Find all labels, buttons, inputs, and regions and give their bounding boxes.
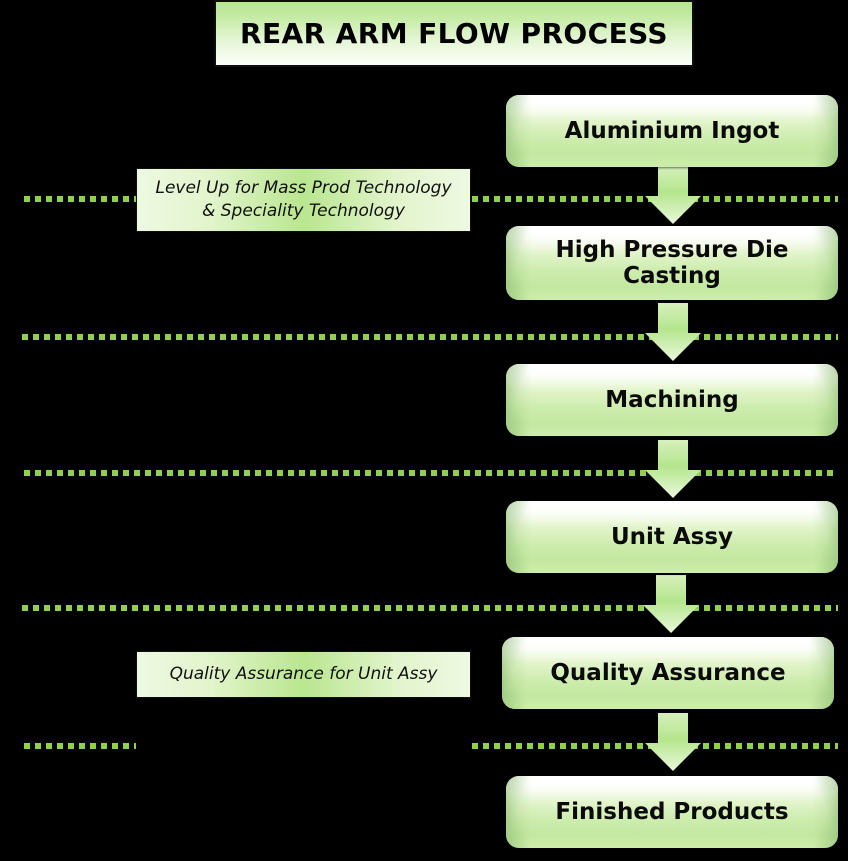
box-bevel-right [812,501,838,573]
annotation-box-level-up: Level Up for Mass Prod Technology & Spec… [136,168,471,232]
process-label: Aluminium Ingot [540,95,804,167]
down-arrow-icon-5 [645,713,701,771]
page-title: REAR ARM FLOW PROCESS [240,19,668,48]
box-bevel-right [812,776,838,848]
dashed-divider-4 [22,605,838,611]
process-label: Machining [540,364,804,436]
process-box-quality-assurance[interactable]: Quality Assurance [502,637,834,709]
annotation-line-1: Level Up for Mass Prod Technology [155,178,451,198]
box-bevel-right [812,95,838,167]
process-label: Unit Assy [540,501,804,573]
down-arrow-icon-1 [645,166,701,224]
annotation-box-quality-assurance: Quality Assurance for Unit Assy [136,651,471,698]
process-box-aluminium-ingot[interactable]: Aluminium Ingot [506,95,838,167]
dashed-divider-5-left [24,743,136,749]
down-arrow-icon-4 [643,575,699,633]
process-box-finished-products[interactable]: Finished Products [506,776,838,848]
down-arrow-icon-3 [645,440,701,498]
annotation-text: Level Up for Mass Prod Technology & Spec… [147,177,459,223]
dashed-divider-3 [24,470,838,476]
process-box-machining[interactable]: Machining [506,364,838,436]
down-arrow-icon-2 [645,303,701,361]
process-box-high-pressure-die-casting[interactable]: High Pressure Die Casting [506,226,838,300]
box-bevel-left [506,501,532,573]
annotation-line-2: & Speciality Technology [202,201,405,221]
process-label: Quality Assurance [536,637,800,709]
box-bevel-left [506,776,532,848]
process-box-unit-assy[interactable]: Unit Assy [506,501,838,573]
box-bevel-left [502,637,528,709]
process-label: High Pressure Die Casting [540,226,804,300]
box-bevel-left [506,364,532,436]
box-bevel-right [812,364,838,436]
box-bevel-left [506,95,532,167]
box-bevel-right [808,637,834,709]
box-bevel-left [506,226,532,300]
dashed-divider-1-left [24,196,136,202]
dashed-divider-2 [22,334,838,340]
page-title-banner: REAR ARM FLOW PROCESS [214,0,694,67]
box-bevel-right [812,226,838,300]
annotation-text: Quality Assurance for Unit Assy [162,663,446,686]
process-label: Finished Products [540,776,804,848]
flowchart-canvas: REAR ARM FLOW PROCESS [0,0,848,861]
annotation-line-1: Quality Assurance for Unit Assy [170,664,438,684]
